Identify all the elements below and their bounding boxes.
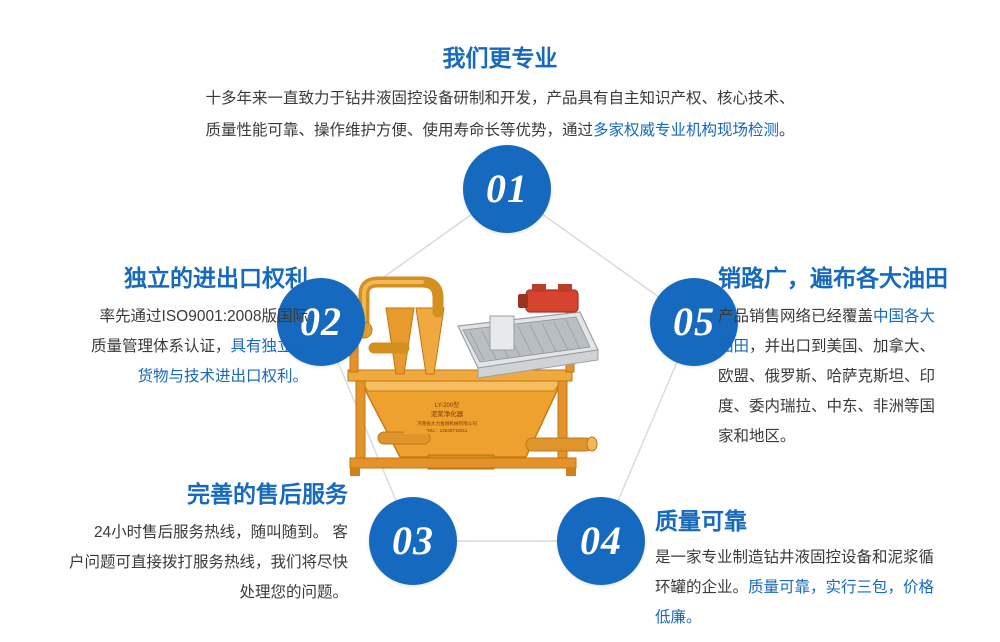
feature-body-distribution-line2: 油田，并出口到美国、加拿大、 (718, 332, 996, 362)
nameplate-line1: LY-200型 (435, 401, 459, 409)
badge-01[interactable]: 01 (463, 145, 551, 233)
text-plain: 产品销售网络已经覆盖 (718, 308, 873, 325)
badge-01-number: 01 (486, 165, 528, 212)
infographic-stage: LY-200型 泥浆净化器 河南省大力金刚机械有限公司 TEL：13838710… (0, 0, 1000, 642)
text-highlight: 具有独立的 (230, 338, 308, 355)
text-highlight: 中国各大 (873, 308, 935, 325)
feature-title-import-export: 独立的进出口权利 (18, 262, 308, 294)
feature-body-professional-line2: 质量性能可靠、操作维护方便、使用寿命长等优势，通过多家权威专业机构现场检测。 (150, 115, 850, 147)
feature-block-after-sales: 完善的售后服务 24小时售后服务热线，随叫随到。 客 户问题可直接拨打服务热线，… (10, 478, 348, 608)
feature-block-import-export: 独立的进出口权利 率先通过ISO9001:2008版国际 质量管理体系认证，具有… (18, 262, 308, 392)
feature-block-professional: 我们更专业 十多年来一直致力于钻井液固控设备研制和开发，产品具有自主知识产权、核… (150, 42, 850, 147)
text-plain: 质量性能可靠、操作维护方便、使用寿命长等优势，通过 (205, 122, 593, 139)
feature-body-quality: 是一家专业制造钻井液固控设备和泥浆循 环罐的企业。质量可靠，实行三包，价格 低廉… (655, 543, 993, 633)
control-box (490, 316, 514, 350)
feature-body-after-sales: 24小时售后服务热线，随叫随到。 客 户问题可直接拨打服务热线，我们将尽快 处理… (10, 518, 348, 608)
badge-04[interactable]: 04 (557, 497, 645, 585)
feature-body-after-sales-line2: 户问题可直接拨打服务热线，我们将尽快 (10, 548, 348, 578)
feature-body-import-export: 率先通过ISO9001:2008版国际 质量管理体系认证，具有独立的 货物与技术… (18, 302, 308, 392)
mud-cleaner-machine-illustration: LY-200型 泥浆净化器 河南省大力金刚机械有限公司 TEL：13838710… (330, 252, 675, 492)
feature-body-distribution-line1: 产品销售网络已经覆盖中国各大 (718, 302, 996, 332)
feature-body-import-export-line3: 货物与技术进出口权利。 (18, 362, 308, 392)
machine-nameplate: LY-200型 泥浆净化器 河南省大力金刚机械有限公司 TEL：13838710… (404, 398, 490, 434)
feature-body-after-sales-line3: 处理您的问题。 (10, 578, 348, 608)
badge-03[interactable]: 03 (369, 497, 457, 585)
badge-04-number: 04 (580, 517, 622, 564)
feature-body-distribution-line4: 度、委内瑞拉、中东、非洲等国 (718, 392, 996, 422)
text-highlight: 质量可靠，实行三包，价格 (748, 579, 934, 596)
feature-body-quality-line2: 环罐的企业。质量可靠，实行三包，价格 (655, 573, 993, 603)
feature-body-after-sales-line1: 24小时售后服务热线，随叫随到。 客 (10, 518, 348, 548)
text-plain: ，并出口到美国、加拿大、 (749, 338, 935, 355)
feature-body-import-export-line1: 率先通过ISO9001:2008版国际 (18, 302, 308, 332)
feature-body-professional: 十多年来一直致力于钻井液固控设备研制和开发，产品具有自主知识产权、核心技术、 质… (150, 83, 850, 147)
feature-body-distribution-line5: 家和地区。 (718, 422, 996, 452)
feature-body-quality-line1: 是一家专业制造钻井液固控设备和泥浆循 (655, 543, 993, 573)
feature-body-professional-line1: 十多年来一直致力于钻井液固控设备研制和开发，产品具有自主知识产权、核心技术、 (150, 83, 850, 115)
feature-block-distribution: 销路广，遍布各大油田 产品销售网络已经覆盖中国各大 油田，并出口到美国、加拿大、… (718, 262, 996, 452)
feature-title-after-sales: 完善的售后服务 (10, 478, 348, 510)
nameplate-line4: TEL：13838710911 (427, 428, 468, 433)
shale-shaker-box (458, 312, 598, 378)
nameplate-line2: 泥浆净化器 (431, 409, 464, 418)
feature-title-distribution: 销路广，遍布各大油田 (718, 262, 996, 294)
feature-body-distribution: 产品销售网络已经覆盖中国各大 油田，并出口到美国、加拿大、 欧盟、俄罗斯、哈萨克… (718, 302, 996, 452)
nameplate-line3: 河南省大力金刚机械有限公司 (417, 420, 477, 427)
text-plain-end: 。 (779, 122, 795, 139)
feature-body-distribution-line3: 欧盟、俄罗斯、哈萨克斯坦、印 (718, 362, 996, 392)
badge-03-number: 03 (392, 517, 434, 564)
text-plain: 质量管理体系认证， (91, 338, 231, 355)
text-plain: 环罐的企业。 (655, 579, 748, 596)
badge-05-number: 05 (673, 298, 715, 345)
desander-cones (386, 308, 444, 374)
feature-title-professional: 我们更专业 (150, 42, 850, 74)
feature-title-quality: 质量可靠 (655, 505, 993, 537)
feature-body-import-export-line2: 质量管理体系认证，具有独立的 (18, 332, 308, 362)
text-highlight: 油田 (718, 338, 749, 355)
text-highlight: 多家权威专业机构现场检测 (593, 122, 779, 139)
feature-block-quality: 质量可靠 是一家专业制造钻井液固控设备和泥浆循 环罐的企业。质量可靠，实行三包，… (655, 505, 993, 633)
vibration-motor (518, 284, 578, 312)
feature-body-quality-line3: 低廉。 (655, 603, 993, 633)
